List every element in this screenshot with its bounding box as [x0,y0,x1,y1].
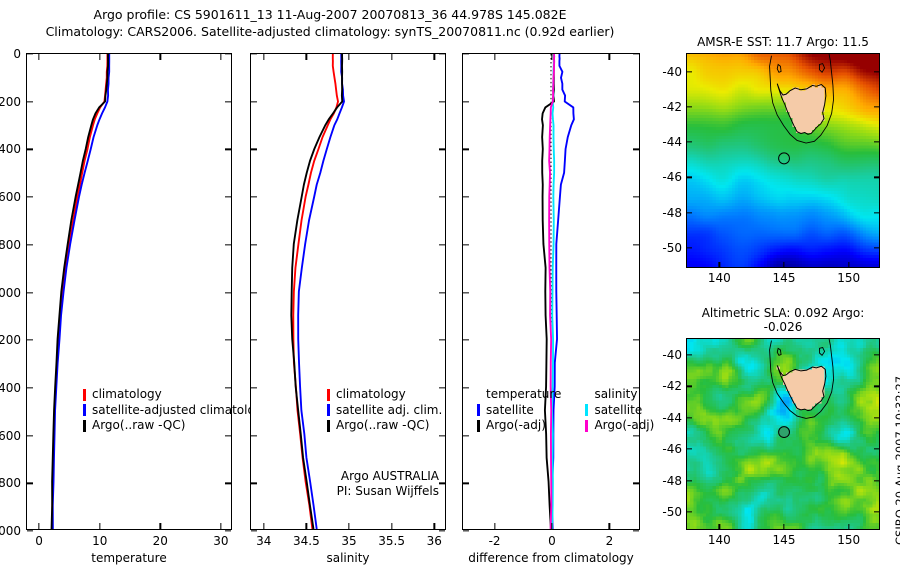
x-tick [609,523,610,529]
lat-tick-label: -46 [662,170,682,184]
legend-color-swatch [327,389,330,401]
x-tick-label: 0 [35,534,43,548]
legend-column: salinitysatelliteArgo(-adj) [585,387,654,434]
legend-entry: Argo(..raw -QC) [327,418,442,434]
legend-entry: climatology [327,387,442,403]
depth-tick-label: 0 [13,47,21,61]
depth-tick [27,196,33,197]
depth-tick [225,483,231,484]
depth-tick [439,244,445,245]
x-tick-label: 34 [256,534,271,548]
depth-tick [439,340,445,341]
figure-title-line1: Argo profile: CS 5901611_13 11-Aug-2007 … [0,6,660,23]
depth-tick [27,340,33,341]
lat-tick [874,480,879,481]
lat-tick [874,212,879,213]
depth-tick [439,292,445,293]
lat-tick [874,71,879,72]
lat-tick [687,354,692,355]
depth-tick [27,435,33,436]
legend-label: satellite [594,403,642,419]
legend-label: satellite-adjusted climatology [92,403,270,419]
temperature-plot-area [27,54,231,529]
sla-map-title: Altimetric SLA: 0.092 Argo: -0.026 [687,306,879,334]
legend-color-swatch [327,420,330,432]
lat-tick [687,511,692,512]
difference-legend: temperaturesatelliteArgo(-adj)salinitysa… [477,387,654,434]
x-tick [99,523,100,529]
depth-tick [439,435,445,436]
depth-tick [463,244,469,245]
lat-tick-label: -46 [662,442,682,456]
depth-tick [463,530,469,531]
legend-heading: temperature [477,387,561,403]
legend-heading: salinity [585,387,654,403]
legend-label: climatology [92,387,162,403]
sla-map-overlay [687,339,879,529]
depth-tick [463,196,469,197]
legend-label: Argo(..raw -QC) [336,418,429,434]
profile-curve [52,54,108,529]
x-tick [160,54,161,60]
x-tick [263,54,264,60]
depth-tick [225,530,231,531]
legend-entry: climatology [83,387,270,403]
depth-tick [27,483,33,484]
lon-tick [719,262,720,267]
depth-tick [251,53,257,54]
x-tick-label: 0 [548,534,556,548]
legend-label: climatology [336,387,406,403]
figure-title: Argo profile: CS 5901611_13 11-Aug-2007 … [0,6,660,40]
depth-tick [251,387,257,388]
depth-tick [251,292,257,293]
x-tick [38,54,39,60]
depth-tick [27,292,33,293]
depth-tick [633,340,639,341]
depth-tick [27,244,33,245]
depth-tick [633,53,639,54]
depth-tick [633,530,639,531]
legend-color-swatch [327,404,330,416]
depth-tick [27,149,33,150]
legend-color-swatch [477,404,480,416]
sst-map-panel[interactable]: AMSR-E SST: 11.7 Argo: 11.5 -40-42-44-46… [686,53,880,268]
legend-entry: satellite [585,403,654,419]
salinity-profile-panel[interactable]: 3434.53535.536 salinity climatologysatel… [250,53,446,530]
lat-tick-label: -48 [662,474,682,488]
x-tick [220,54,221,60]
depth-tick [439,530,445,531]
legend-color-swatch [83,420,86,432]
salinity-axis-label: salinity [251,551,445,565]
x-tick [38,523,39,529]
lon-tick-label: 150 [837,533,860,547]
lat-tick-label: -42 [662,100,682,114]
depth-tick [439,483,445,484]
lon-tick-label: 145 [773,271,796,285]
lat-tick-label: -50 [662,241,682,255]
x-tick [348,54,349,60]
legend-entry: satellite-adjusted climatology [83,403,270,419]
x-tick-label: 36 [427,534,442,548]
salinity-legend: climatologysatellite adj. clim.Argo(..ra… [327,387,442,434]
lat-tick-label: -50 [662,505,682,519]
island-coastline [777,64,781,72]
depth-tick [225,292,231,293]
lat-tick-label: -44 [662,411,682,425]
csiro-timestamp: CSIRO 20-Aug-2007 10:32:27 [893,376,900,545]
legend-label: temperature [486,387,561,403]
depth-tick [225,196,231,197]
depth-tick [27,530,33,531]
x-tick [348,523,349,529]
argo-float-marker[interactable] [779,427,790,438]
depth-tick [463,101,469,102]
profile-curve [298,54,344,529]
x-tick-label: 2 [606,534,614,548]
x-tick-label: 35.5 [378,534,405,548]
depth-tick [439,53,445,54]
lat-tick [874,417,879,418]
depth-tick [463,483,469,484]
x-tick [551,54,552,60]
lon-tick-label: 145 [773,533,796,547]
lat-tick [687,247,692,248]
depth-tick-label: 600 [0,190,21,204]
x-tick [263,523,264,529]
lat-tick [687,141,692,142]
lon-tick [719,524,720,529]
depth-tick [439,196,445,197]
temperature-profile-panel[interactable]: 0200400600800100012001400160018002000010… [26,53,232,530]
lon-tick [783,524,784,529]
legend-color-swatch [585,404,588,416]
depth-tick [225,435,231,436]
legend-label: satellite [486,403,534,419]
lat-tick [687,71,692,72]
depth-tick [633,244,639,245]
legend-label: satellite adj. clim. [336,403,442,419]
depth-tick [251,196,257,197]
difference-plot-area [463,54,639,529]
depth-tick-label: 400 [0,142,21,156]
island-coastline [777,348,781,355]
x-tick [306,523,307,529]
depth-tick [463,149,469,150]
legend-entry: satellite adj. clim. [327,403,442,419]
depth-tick [225,53,231,54]
lat-tick [687,417,692,418]
x-tick [434,523,435,529]
legend-label: Argo(-adj) [594,418,654,434]
depth-tick [251,149,257,150]
x-tick-label: 34.5 [293,534,320,548]
depth-tick [463,387,469,388]
legend-color-swatch [585,420,588,432]
lat-tick [874,354,879,355]
profile-curve [552,54,574,529]
lat-tick [874,106,879,107]
x-tick [220,523,221,529]
lat-tick [687,106,692,107]
depth-tick [251,530,257,531]
legend-color-swatch [477,420,480,432]
depth-tick [463,340,469,341]
depth-tick [251,483,257,484]
x-tick [434,54,435,60]
depth-tick [27,53,33,54]
lat-tick [687,212,692,213]
depth-tick [633,149,639,150]
depth-tick [633,435,639,436]
difference-axis-label: difference from climatology [463,551,639,565]
legend-label: Argo(..raw -QC) [92,418,185,434]
lat-tick [687,386,692,387]
island-coastline [819,348,824,356]
lat-tick [874,177,879,178]
salinity-plot-area [251,54,445,529]
lon-tick-label: 140 [708,271,731,285]
legend-label: salinity [594,387,637,403]
lat-tick-label: -42 [662,379,682,393]
depth-tick [439,149,445,150]
depth-tick-label: 1400 [0,381,21,395]
temperature-legend: climatologysatellite-adjusted climatolog… [83,387,270,434]
legend-color-swatch [83,389,86,401]
lat-tick [874,247,879,248]
depth-tick [463,292,469,293]
depth-tick-label: 2000 [0,524,21,538]
depth-tick [251,244,257,245]
lon-tick [848,262,849,267]
depth-tick [251,101,257,102]
depth-tick-label: 1000 [0,286,21,300]
lat-tick [874,141,879,142]
lat-tick-label: -44 [662,135,682,149]
legend-label: Argo(-adj) [486,418,546,434]
x-tick-label: -2 [489,534,501,548]
legend-color-swatch [585,389,588,401]
lat-tick-label: -40 [662,348,682,362]
x-tick [306,54,307,60]
x-tick [551,523,552,529]
lat-tick [874,449,879,450]
legend-entry: Argo(-adj) [477,418,561,434]
depth-tick [225,244,231,245]
lat-tick [874,386,879,387]
x-tick [391,54,392,60]
legend-color-swatch [83,404,86,416]
x-tick [494,54,495,60]
lon-tick [783,262,784,267]
depth-tick [27,387,33,388]
lat-tick [687,177,692,178]
x-tick [391,523,392,529]
legend-entry: satellite [477,403,561,419]
difference-profile-panel[interactable]: -202 difference from climatology tempera… [462,53,640,530]
depth-tick [633,483,639,484]
sla-map-panel[interactable]: Altimetric SLA: 0.092 Argo: -0.026 -40-4… [686,338,880,530]
legend-entry: Argo(..raw -QC) [83,418,270,434]
lat-tick [687,449,692,450]
argo-credit-line1: Argo AUSTRALIA [337,469,439,484]
argo-credit: Argo AUSTRALIA PI: Susan Wijffels [337,469,439,499]
depth-tick [463,435,469,436]
sst-map-title: AMSR-E SST: 11.7 Argo: 11.5 [687,35,879,49]
figure-title-line2: Climatology: CARS2006. Satellite-adjuste… [0,23,660,40]
x-tick-label: 20 [153,534,168,548]
depth-tick [225,149,231,150]
depth-tick [633,292,639,293]
depth-tick-label: 1800 [0,476,21,490]
island-coastline [819,64,824,73]
sst-map-overlay [687,54,879,267]
x-tick-label: 10 [92,534,107,548]
depth-tick [251,435,257,436]
depth-tick [463,53,469,54]
depth-tick [27,101,33,102]
depth-tick [633,196,639,197]
depth-tick [439,101,445,102]
temperature-axis-label: temperature [27,551,231,565]
legend-entry: Argo(-adj) [585,418,654,434]
depth-tick-label: 1600 [0,429,21,443]
argo-credit-line2: PI: Susan Wijffels [337,484,439,499]
lon-tick-label: 140 [708,533,731,547]
x-tick [494,523,495,529]
x-tick [99,54,100,60]
x-tick-label: 35 [341,534,356,548]
x-tick [160,523,161,529]
depth-tick [225,340,231,341]
depth-tick-label: 200 [0,95,21,109]
argo-float-marker[interactable] [779,153,790,164]
depth-tick [225,101,231,102]
x-tick [609,54,610,60]
lon-tick-label: 150 [837,271,860,285]
depth-tick [633,101,639,102]
legend-color-swatch [477,389,480,401]
lat-tick-label: -40 [662,65,682,79]
x-tick-label: 30 [213,534,228,548]
lat-tick [874,511,879,512]
depth-tick-label: 1200 [0,333,21,347]
lat-tick [687,480,692,481]
depth-tick-label: 800 [0,238,21,252]
lon-tick [848,524,849,529]
legend-column: temperaturesatelliteArgo(-adj) [477,387,561,434]
lat-tick-label: -48 [662,206,682,220]
profile-curve [293,54,338,529]
depth-tick [251,340,257,341]
